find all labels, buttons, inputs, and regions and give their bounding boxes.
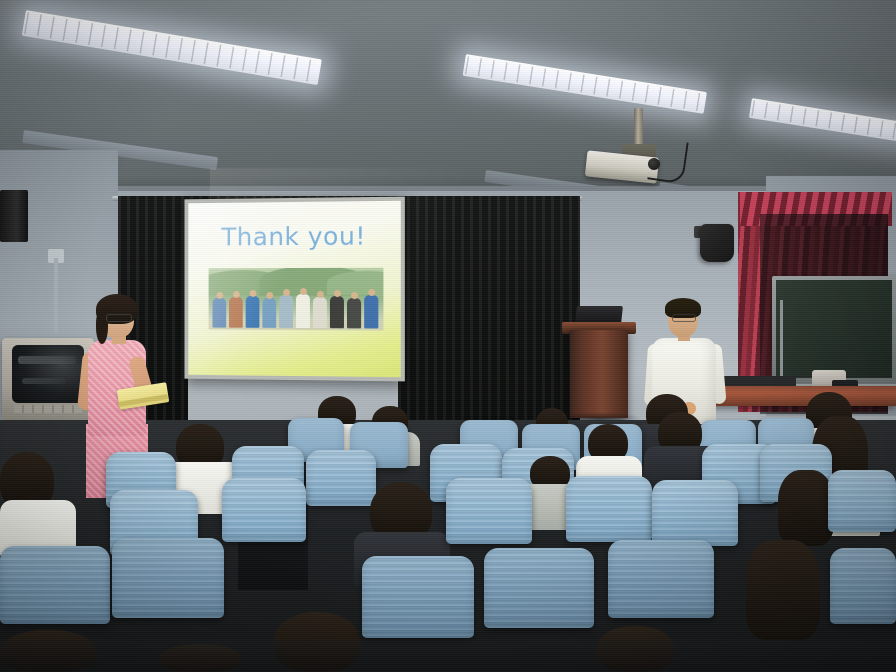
slide-group-photo	[209, 268, 384, 331]
seat[interactable]	[0, 546, 110, 624]
seat[interactable]	[830, 548, 896, 624]
slide-heading: Thank you!	[188, 221, 400, 252]
tv-screen	[12, 345, 84, 403]
seat[interactable]	[566, 476, 652, 542]
lecture-hall-photo: Thank you!	[0, 0, 896, 672]
lectern	[570, 330, 628, 418]
glasses-icon	[672, 314, 696, 322]
tv-reflection-2	[22, 378, 66, 384]
floor-foreground	[0, 640, 896, 672]
seat[interactable]	[306, 450, 376, 506]
seat[interactable]	[652, 480, 738, 546]
seat[interactable]	[484, 548, 594, 628]
seat[interactable]	[446, 478, 532, 544]
tv-control-panel	[14, 405, 82, 413]
glasses-icon	[106, 314, 132, 322]
seat[interactable]	[222, 478, 306, 542]
tv-reflection	[18, 356, 76, 364]
wall-speaker-right-icon	[700, 224, 734, 262]
seat[interactable]	[608, 540, 714, 618]
projection-screen[interactable]: Thank you!	[188, 201, 400, 378]
wall-ceiling-joint	[0, 186, 896, 191]
chalkboard	[776, 280, 892, 378]
seat[interactable]	[828, 470, 896, 532]
seat[interactable]	[112, 538, 224, 618]
wall-speaker-left-icon	[0, 190, 28, 242]
wall-conduit	[54, 258, 58, 332]
seat[interactable]	[362, 556, 474, 638]
